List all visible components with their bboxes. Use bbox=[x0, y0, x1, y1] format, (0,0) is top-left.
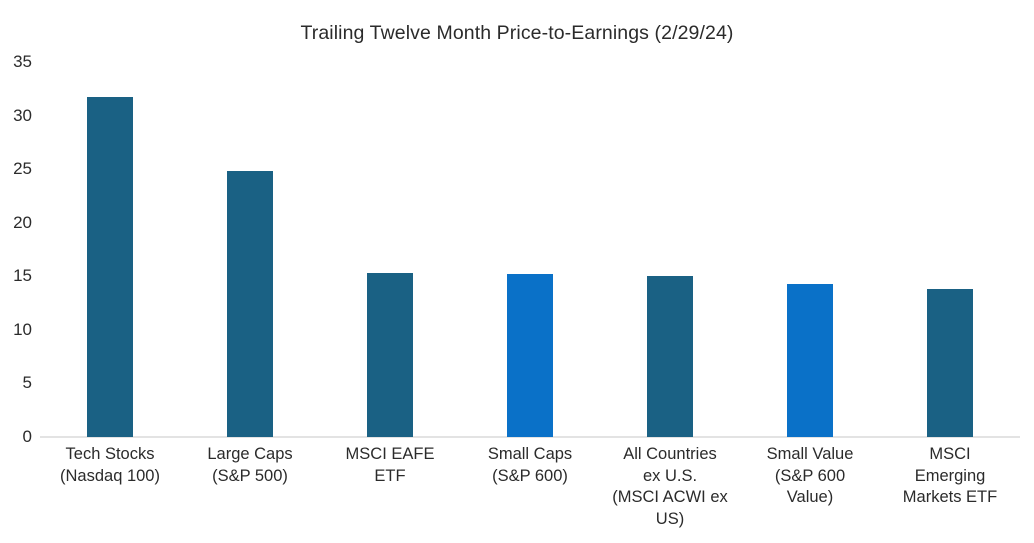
x-axis-category-label-line: Markets ETF bbox=[880, 487, 1020, 509]
x-axis-category-label-line: (S&P 600) bbox=[460, 466, 600, 488]
chart-title: Trailing Twelve Month Price-to-Earnings … bbox=[0, 22, 1034, 45]
y-axis-tick-label: 20 bbox=[13, 213, 32, 233]
y-axis-tick-label: 35 bbox=[13, 52, 32, 72]
x-axis-category-label-line: (MSCI ACWI ex bbox=[600, 487, 740, 509]
x-axis-category-label: Small Value(S&P 600Value) bbox=[740, 444, 880, 509]
bar-slot bbox=[40, 62, 180, 437]
x-axis-category-label: Large Caps(S&P 500) bbox=[180, 444, 320, 487]
x-axis-category-label: Tech Stocks(Nasdaq 100) bbox=[40, 444, 180, 487]
x-axis-category-label-line: MSCI bbox=[880, 444, 1020, 466]
x-axis-category-label: All Countriesex U.S.(MSCI ACWI exUS) bbox=[600, 444, 740, 530]
x-axis-category-label-line: Small Value bbox=[740, 444, 880, 466]
bar[interactable] bbox=[87, 97, 133, 437]
bar[interactable] bbox=[787, 284, 833, 437]
bar-slot bbox=[320, 62, 460, 437]
bar[interactable] bbox=[927, 289, 973, 437]
y-axis-tick-label: 15 bbox=[13, 266, 32, 286]
x-axis-category-label-line: (S&P 500) bbox=[180, 466, 320, 488]
x-axis-category-label-line: Large Caps bbox=[180, 444, 320, 466]
x-axis-category-label-line: Small Caps bbox=[460, 444, 600, 466]
y-axis-tick-label: 10 bbox=[13, 320, 32, 340]
x-axis-category-label: MSCIEmergingMarkets ETF bbox=[880, 444, 1020, 509]
bar-slot bbox=[740, 62, 880, 437]
x-axis-category-label: MSCI EAFEETF bbox=[320, 444, 460, 487]
x-axis-category-label: Small Caps(S&P 600) bbox=[460, 444, 600, 487]
y-axis-tick-label: 0 bbox=[23, 427, 32, 447]
y-axis-tick-label: 25 bbox=[13, 159, 32, 179]
x-axis: Tech Stocks(Nasdaq 100)Large Caps(S&P 50… bbox=[40, 444, 1020, 540]
x-axis-category-label-line: Emerging bbox=[880, 466, 1020, 488]
bar[interactable] bbox=[647, 276, 693, 437]
x-axis-category-label-line: (Nasdaq 100) bbox=[40, 466, 180, 488]
y-axis-tick-label: 30 bbox=[13, 106, 32, 126]
chart-container: Trailing Twelve Month Price-to-Earnings … bbox=[0, 0, 1034, 543]
x-axis-category-label-line: (S&P 600 bbox=[740, 466, 880, 488]
bar-slot bbox=[600, 62, 740, 437]
bar[interactable] bbox=[367, 273, 413, 437]
bar[interactable] bbox=[227, 171, 273, 437]
bar-slot bbox=[880, 62, 1020, 437]
y-axis-tick-label: 5 bbox=[23, 373, 32, 393]
x-axis-category-label-line: Value) bbox=[740, 487, 880, 509]
x-axis-category-label-line: US) bbox=[600, 509, 740, 531]
x-axis-category-label-line: MSCI EAFE bbox=[320, 444, 460, 466]
bar[interactable] bbox=[507, 274, 553, 437]
y-axis: 05101520253035 bbox=[0, 62, 36, 437]
bar-slot bbox=[460, 62, 600, 437]
x-axis-category-label-line: Tech Stocks bbox=[40, 444, 180, 466]
bar-slot bbox=[180, 62, 320, 437]
x-axis-category-label-line: All Countries bbox=[600, 444, 740, 466]
plot-area bbox=[40, 62, 1020, 437]
x-axis-category-label-line: ETF bbox=[320, 466, 460, 488]
x-axis-category-label-line: ex U.S. bbox=[600, 466, 740, 488]
